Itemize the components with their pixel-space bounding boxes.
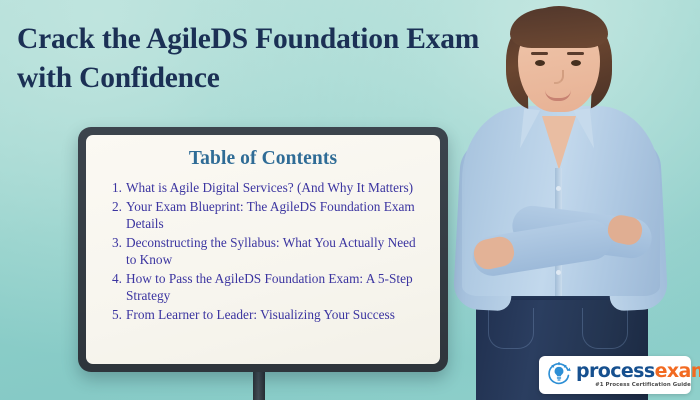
person-pocket-right xyxy=(582,308,628,349)
logo-word-primary: process xyxy=(576,360,655,382)
list-item: What is Agile Digital Services? (And Why… xyxy=(124,179,422,196)
page-title: Crack the AgileDS Foundation Exam with C… xyxy=(17,20,497,98)
logo-tagline: #1 Process Certification Guide xyxy=(576,383,700,388)
processexam-logo[interactable]: processexam #1 Process Certification Gui… xyxy=(539,356,691,394)
person-shirt-button xyxy=(556,186,561,191)
list-item: Deconstructing the Syllabus: What You Ac… xyxy=(124,234,422,269)
list-item: Your Exam Blueprint: The AgileDS Foundat… xyxy=(124,198,422,233)
lightbulb-in-circular-arrow-icon xyxy=(546,360,572,391)
list-item: How to Pass the AgileDS Foundation Exam:… xyxy=(124,270,422,305)
person-pocket-left xyxy=(488,308,534,349)
person-shirt-button xyxy=(556,270,561,275)
person-eye-right xyxy=(571,60,581,66)
whiteboard-surface: Table of Contents What is Agile Digital … xyxy=(86,135,440,364)
list-item: From Learner to Leader: Visualizing Your… xyxy=(124,306,422,323)
logo-wordmark: processexam xyxy=(576,360,700,382)
whiteboard: Table of Contents What is Agile Digital … xyxy=(78,127,448,372)
person-collar-left xyxy=(520,109,553,152)
person-eyebrow-left xyxy=(531,52,548,55)
person-eye-left xyxy=(535,60,545,66)
person-collar-right xyxy=(560,109,594,152)
promo-banner: Crack the AgileDS Foundation Exam with C… xyxy=(0,0,700,400)
logo-word-secondary: exam xyxy=(655,360,700,382)
person-eyebrow-right xyxy=(567,52,584,55)
person-hair-fringe xyxy=(510,8,608,48)
logo-text: processexam #1 Process Certification Gui… xyxy=(576,362,700,388)
table-of-contents-heading: Table of Contents xyxy=(102,148,424,170)
table-of-contents-list: What is Agile Digital Services? (And Why… xyxy=(102,179,424,323)
